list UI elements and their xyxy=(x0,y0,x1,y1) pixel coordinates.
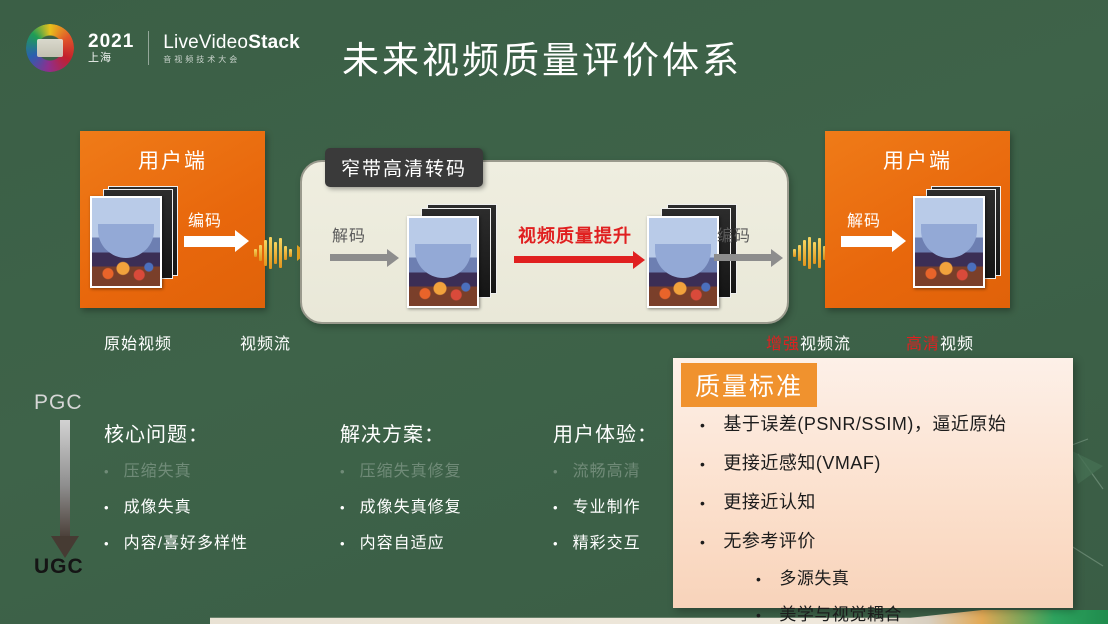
list-item-label: 内容自适应 xyxy=(360,529,445,553)
slide-canvas: 2021 上海 LiveVideoStack 音视频技术大会 未来视频质量评价体… xyxy=(0,0,1108,624)
quality-standards-title: 质量标准 xyxy=(681,363,817,407)
column-list: •压缩失真 •成像失真 •内容/喜好多样性 xyxy=(104,457,248,553)
bullet-icon: • xyxy=(700,456,705,472)
bullet-icon: • xyxy=(553,536,559,551)
list-item: •流畅高清 xyxy=(553,457,658,481)
header-divider xyxy=(148,31,149,65)
bullet-icon: • xyxy=(553,500,559,515)
bullet-icon: • xyxy=(340,536,346,551)
quality-list-root: •基于误差(PSNR/SSIM)，逼近原始 •更接近感知(VMAF) •更接近认… xyxy=(700,410,1070,553)
caption-enhanced-prefix: 增强 xyxy=(766,336,800,353)
list-item-label: 内容/喜好多样性 xyxy=(124,529,248,553)
bullet-icon: • xyxy=(756,571,761,587)
decoded-video-stack-icon xyxy=(407,204,493,308)
list-item: •专业制作 xyxy=(553,493,658,517)
quality-boost-arrow-icon xyxy=(514,256,634,263)
list-item-label: 更接近认知 xyxy=(723,488,816,514)
list-item: •多源失真 xyxy=(756,564,1070,589)
column-title: 解决方案： xyxy=(340,418,462,447)
list-item: •成像失真修复 xyxy=(340,493,462,517)
column-core-problems: 核心问题： •压缩失真 •成像失真 •内容/喜好多样性 xyxy=(104,418,248,565)
column-title: 核心问题： xyxy=(104,418,248,447)
bullet-icon: • xyxy=(340,500,346,515)
list-item: •内容/喜好多样性 xyxy=(104,529,248,553)
axis-label-pgc: PGC xyxy=(34,391,83,415)
bullet-icon: • xyxy=(700,495,705,511)
list-item-label: 成像失真修复 xyxy=(360,493,462,517)
left-encode-label: 编码 xyxy=(188,207,222,231)
logo-city: 上海 xyxy=(88,53,134,64)
bullet-icon: • xyxy=(700,534,705,550)
right-client-box: 用户端 解码 xyxy=(825,131,1010,308)
right-decode-label: 解码 xyxy=(847,207,881,231)
left-encode-arrow-icon xyxy=(184,236,236,247)
list-item-label: 多源失真 xyxy=(779,564,849,589)
logo-mark xyxy=(26,24,74,72)
column-list: •压缩失真修复 •成像失真修复 •内容自适应 xyxy=(340,457,462,553)
caption-original-video: 原始视频 xyxy=(104,330,172,354)
brand-name-light: LiveVideo xyxy=(163,32,248,53)
list-item: •成像失真 xyxy=(104,493,248,517)
bullet-icon: • xyxy=(104,536,110,551)
list-item-label: 更接近感知(VMAF) xyxy=(723,449,881,475)
list-item-label: 精彩交互 xyxy=(573,529,641,553)
conference-logo-header: 2021 上海 LiveVideoStack 音视频技术大会 xyxy=(26,24,300,72)
list-item-label: 无参考评价 xyxy=(723,527,816,553)
brand-name: LiveVideoStack xyxy=(163,33,300,52)
column-list: •流畅高清 •专业制作 •精彩交互 xyxy=(553,457,658,553)
column-solutions: 解决方案： •压缩失真修复 •成像失真修复 •内容自适应 xyxy=(340,418,462,565)
original-video-stack-icon xyxy=(90,186,176,290)
list-item-label: 流畅高清 xyxy=(573,457,641,481)
logo-core-icon xyxy=(37,39,63,57)
brand-block: LiveVideoStack 音视频技术大会 xyxy=(163,33,300,64)
column-user-experience: 用户体验： •流畅高清 •专业制作 •精彩交互 xyxy=(553,418,658,565)
right-decode-arrow-icon xyxy=(841,236,893,247)
list-item-label: 成像失真 xyxy=(124,493,192,517)
caption-hq-video: 高清视频 xyxy=(906,330,974,354)
list-item-label: 美学与视觉耦合 xyxy=(779,600,902,624)
caption-hq-prefix: 高清 xyxy=(906,336,940,353)
list-item-label: 压缩失真 xyxy=(124,457,192,481)
quality-boost-label: 视频质量提升 xyxy=(518,222,632,248)
pgc-ugc-arrow-icon xyxy=(60,420,70,538)
brand-name-bold: Stack xyxy=(248,32,300,53)
list-item: •无参考评价 xyxy=(700,527,1070,553)
caption-video-stream: 视频流 xyxy=(240,330,291,354)
quality-sub-list: •多源失真 •美学与视觉耦合 xyxy=(756,564,1070,624)
quality-standards-list: •基于误差(PSNR/SSIM)，逼近原始 •更接近感知(VMAF) •更接近认… xyxy=(700,410,1070,624)
list-item: •更接近认知 xyxy=(700,488,1070,514)
left-client-box: 用户端 编码 xyxy=(80,131,265,308)
list-item: •美学与视觉耦合 xyxy=(756,600,1070,624)
bullet-icon: • xyxy=(553,464,559,479)
list-item: •基于误差(PSNR/SSIM)，逼近原始 xyxy=(700,410,1070,436)
bullet-icon: • xyxy=(104,500,110,515)
caption-enhanced-suffix: 视频流 xyxy=(800,336,851,353)
list-item: •内容自适应 xyxy=(340,529,462,553)
right-client-title: 用户端 xyxy=(825,145,1010,175)
axis-label-ugc: UGC xyxy=(34,555,84,579)
list-item: •压缩失真 xyxy=(104,457,248,481)
list-item-label: 专业制作 xyxy=(573,493,641,517)
list-item: •压缩失真修复 xyxy=(340,457,462,481)
list-item: •精彩交互 xyxy=(553,529,658,553)
bullet-icon: • xyxy=(104,464,110,479)
bullet-icon: • xyxy=(700,417,705,433)
page-title: 未来视频质量评价体系 xyxy=(342,30,742,84)
column-title: 用户体验： xyxy=(553,418,658,447)
decoded-output-stack-icon xyxy=(913,186,999,290)
list-item: •更接近感知(VMAF) xyxy=(700,449,1070,475)
left-client-title: 用户端 xyxy=(80,145,265,175)
bullet-icon: • xyxy=(340,464,346,479)
brand-subtitle: 音视频技术大会 xyxy=(163,56,300,64)
decode-arrow-icon xyxy=(330,254,388,261)
encode-label: 编码 xyxy=(717,222,751,246)
list-item-label: 基于误差(PSNR/SSIM)，逼近原始 xyxy=(723,410,1006,436)
logo-year: 2021 xyxy=(88,32,134,51)
caption-enhanced-stream: 增强视频流 xyxy=(766,330,851,354)
decode-label: 解码 xyxy=(332,222,366,246)
bullet-icon: • xyxy=(756,607,761,623)
logo-year-block: 2021 上海 xyxy=(88,32,134,64)
transcode-badge: 窄带高清转码 xyxy=(325,148,483,187)
list-item-label: 压缩失真修复 xyxy=(360,457,462,481)
encode-arrow-icon xyxy=(714,254,772,261)
caption-hq-suffix: 视频 xyxy=(940,336,974,353)
